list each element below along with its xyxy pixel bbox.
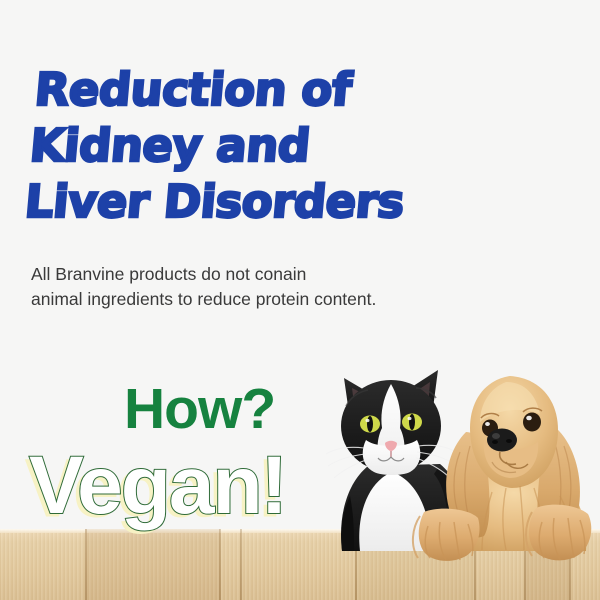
headline-line-2: Kidney and [28,118,533,174]
dog-figure [446,376,586,551]
callout-answer-text: Vegan! [29,441,286,531]
callout-answer: Vegan! Vegan! [29,441,369,546]
body-copy-line-1: All Branvine products do not conain [31,262,551,287]
headline-line-1: Reduction of [32,62,537,118]
poster-canvas: Reduction of Kidney and Liver Disorders … [0,0,600,600]
headline-line-3: Liver Disorders [23,174,528,230]
body-copy: All Branvine products do not conain anim… [31,262,551,312]
page-title: Reduction of Kidney and Liver Disorders [23,62,538,230]
body-copy-line-2: animal ingredients to reduce protein con… [31,287,551,312]
callout-question: How? [124,381,275,438]
